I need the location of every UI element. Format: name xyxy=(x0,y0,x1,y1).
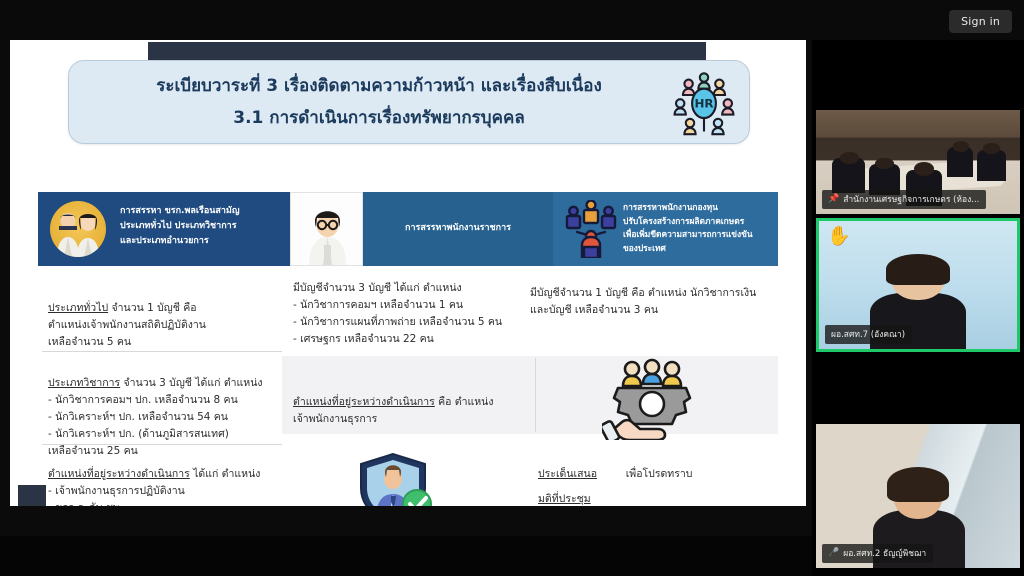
attendee-head xyxy=(875,158,893,169)
officer-portrait-photo xyxy=(290,192,363,266)
participant-hair xyxy=(887,467,948,502)
col2-block2: ตำแหน่งที่อยู่ระหว่างดำเนินการ คือ ตำแหน… xyxy=(293,377,523,428)
top-bar: Sign in xyxy=(0,0,1024,40)
presentation-slide: ระเบียบวาระที่ 3 เรื่องติดตามความก้าวหน้… xyxy=(10,40,806,506)
app-window: Sign in ระเบียบวาระที่ 3 เรื่องติดตามควา… xyxy=(0,0,1024,576)
footer-proposal-value: เพื่อโปรดทราบ xyxy=(626,468,693,480)
col1-block1-heading: ประเภททั่วไป xyxy=(48,302,108,314)
attendee-head xyxy=(914,162,934,176)
footer-resolution-row: มติที่ประชุม xyxy=(538,490,591,506)
footer-resolution-label: มติที่ประชุม xyxy=(538,493,591,505)
col1-block3-heading: ตำแหน่งที่อยู่ระหว่างดำเนินการ xyxy=(48,468,190,480)
category-header-strip: การสรรหา ขรก.พลเรือนสามัญ ประเภททั่วไป ป… xyxy=(38,192,778,266)
col3-block1: มีบัญชีจำนวน 1 บัญชี คือ ตำแหน่ง นักวิชา… xyxy=(530,285,780,319)
verified-person-shield-icon xyxy=(355,452,433,506)
speaker-hair xyxy=(886,254,949,285)
header-government-employee: การสรรหาพนักงานราชการ xyxy=(363,192,553,266)
svg-text:HR: HR xyxy=(694,97,713,111)
header-civil-servant-label: การสรรหา ขรก.พลเรือนสามัญ ประเภททั่วไป ป… xyxy=(120,204,282,249)
participant-tile-speaker[interactable]: ✋ ผอ.สศท.7 (อังคณา) xyxy=(816,218,1020,352)
col1-block1: ประเภททั่วไป จำนวน 1 บัญชี คือ ตำแหน่งเจ… xyxy=(48,283,288,351)
attendee-head xyxy=(983,143,999,153)
header-government-employee-label: การสรรหาพนักงานราชการ xyxy=(363,220,553,234)
raised-hand-icon: ✋ xyxy=(827,227,851,246)
two-officers-avatar-icon xyxy=(50,201,106,257)
hr-magnifier-icon: HR xyxy=(669,67,739,137)
slide-title-line2: 3.1 การดำเนินการเรื่องทรัพยากรบุคคล xyxy=(69,104,689,131)
attendee-silhouette xyxy=(947,147,974,176)
participant-name-badge: 📌 สำนักงานเศรษฐกิจการเกษตร (ห้อง... xyxy=(822,190,986,209)
sign-in-button[interactable]: Sign in xyxy=(949,10,1012,33)
header-fund-employee-label: การสรรหาพนักงานกองทุน ปรับโครงสร้างการผล… xyxy=(623,201,773,255)
participant-rail: 📌 สำนักงานเศรษฐกิจการเกษตร (ห้อง... ✋ ผอ… xyxy=(812,40,1024,576)
col2-block1: มีบัญชีจำนวน 3 บัญชี ได้แก่ ตำแหน่ง - นั… xyxy=(293,280,523,348)
footer-proposal-label: ประเด็นเสนอ xyxy=(538,468,597,480)
col1-divider-2 xyxy=(42,444,282,445)
participant-name-text: ผอ.สศท.7 (อังคณา) xyxy=(831,327,905,341)
participant-tile-room[interactable]: 📌 สำนักงานเศรษฐกิจการเกษตร (ห้อง... xyxy=(816,110,1020,214)
participant-name-badge: ผอ.สศท.7 (อังคณา) xyxy=(825,325,912,344)
team-lift-icon xyxy=(563,200,619,258)
attendee-head xyxy=(840,152,858,164)
header-civil-servant: การสรรหา ขรก.พลเรือนสามัญ ประเภททั่วไป ป… xyxy=(38,192,290,266)
col1-block2-body: จำนวน 3 บัญชี ได้แก่ ตำแหน่ง - นักวิชากา… xyxy=(48,377,263,457)
pin-icon: 📌 xyxy=(828,194,839,204)
mic-muted-icon: 🎤 xyxy=(828,548,839,558)
participant-name-badge: 🎤 ผอ.สศท.2 ธัญญ์พิชฌา xyxy=(822,544,933,563)
participant-name-text: สำนักงานเศรษฐกิจการเกษตร (ห้อง... xyxy=(843,192,979,206)
slide-corner-block xyxy=(18,485,46,506)
attendee-head xyxy=(953,141,969,151)
participant-name-text: ผอ.สศท.2 ธัญญ์พิชฌา xyxy=(843,546,926,560)
band-vertical-divider xyxy=(535,358,536,432)
hand-holding-team-icon xyxy=(602,358,702,440)
slide-title-box: ระเบียบวาระที่ 3 เรื่องติดตามความก้าวหน้… xyxy=(68,60,750,144)
attendee-silhouette xyxy=(977,150,1006,181)
col1-block3: ตำแหน่งที่อยู่ระหว่างดำเนินการ ได้แก่ ตำ… xyxy=(48,449,290,506)
col1-divider-1 xyxy=(42,351,282,352)
col1-block2-heading: ประเภทวิชาการ xyxy=(48,377,120,389)
footer-proposal-row: ประเด็นเสนอ เพื่อโปรดทราบ xyxy=(538,465,692,482)
slide-title-line1: ระเบียบวาระที่ 3 เรื่องติดตามความก้าวหน้… xyxy=(69,72,689,99)
header-fund-employee: การสรรหาพนักงานกองทุน ปรับโครงสร้างการผล… xyxy=(553,192,778,266)
col2-block2-heading: ตำแหน่งที่อยู่ระหว่างดำเนินการ xyxy=(293,396,435,408)
screen-share-area[interactable]: ระเบียบวาระที่ 3 เรื่องติดตามความก้าวหน้… xyxy=(0,40,812,536)
participant-tile-participant[interactable]: 🎤 ผอ.สศท.2 ธัญญ์พิชฌา xyxy=(816,424,1020,568)
